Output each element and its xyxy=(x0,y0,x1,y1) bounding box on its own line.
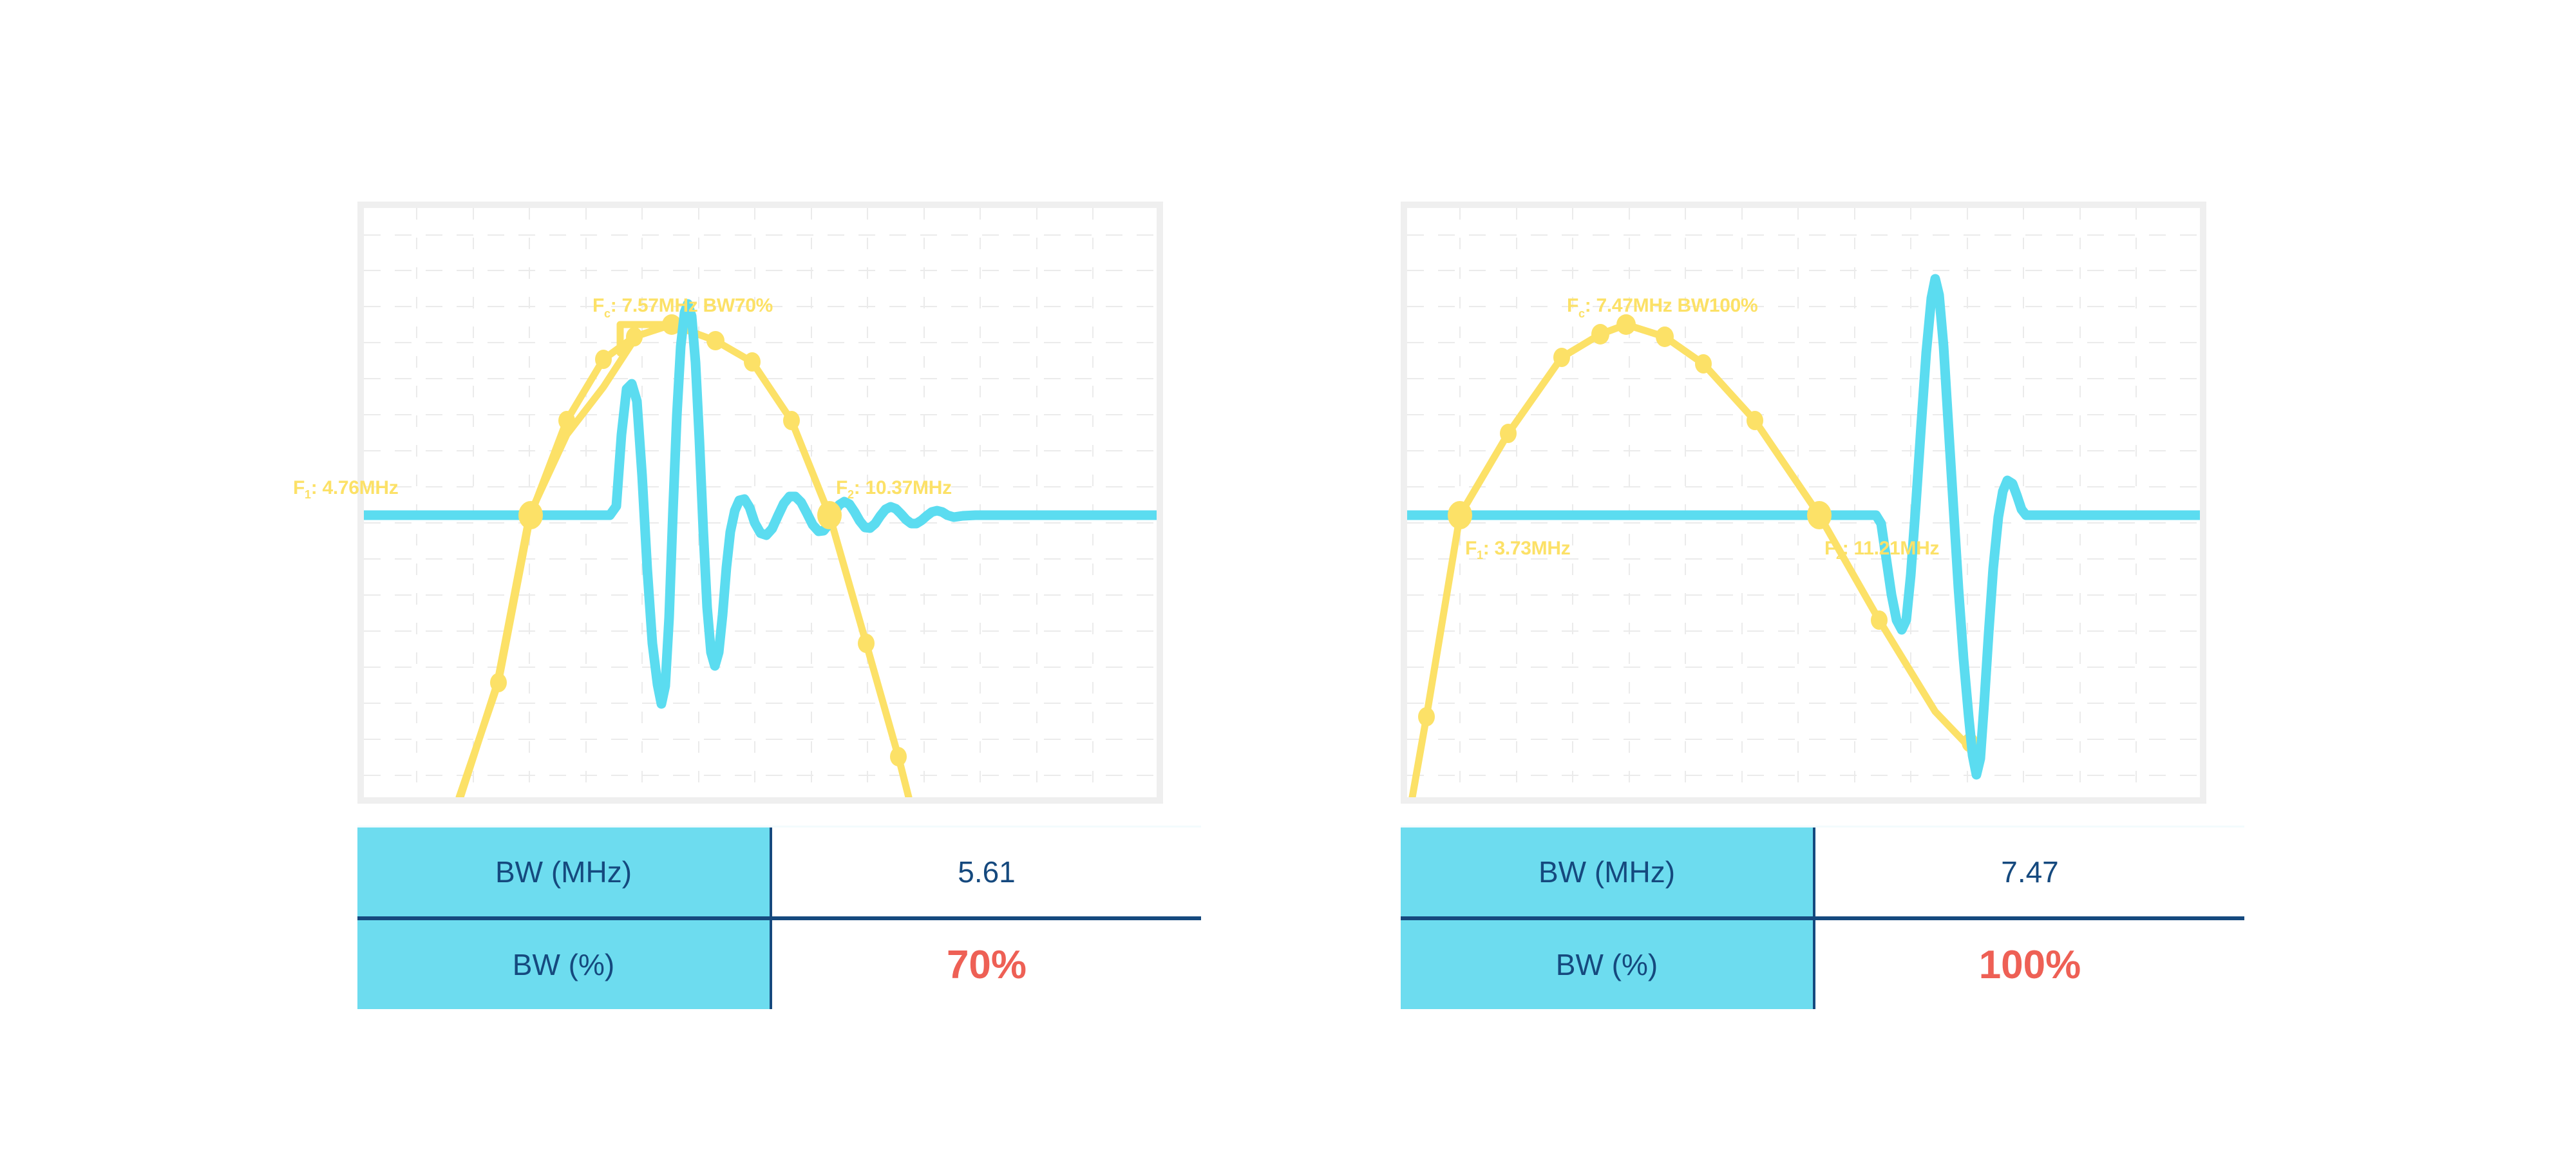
plot-area-left: Fc: 7.57MHz BW70% F1: 4.76MHz F2: 10.37M… xyxy=(364,208,1157,797)
lower-frequency-label-left: F1: 4.76MHz xyxy=(293,477,398,499)
lower-frequency-label-right: F1: 3.73MHz xyxy=(1465,538,1570,560)
table-row: BW (%) 100% xyxy=(1401,918,2244,1009)
bw-percent-label-left: BW (%) xyxy=(357,918,771,1009)
plot-svg-right xyxy=(1407,208,2200,797)
upper-frequency-label-left: F2: 10.37MHz xyxy=(836,477,952,499)
waveform-right xyxy=(1407,279,2200,775)
spectrum-curve-left-main xyxy=(459,325,909,797)
plot-frame-left: Fc: 7.57MHz BW70% F1: 4.76MHz F2: 10.37M… xyxy=(357,202,1163,804)
plot-area-right: Fc: 7.47MHz BW100% F1: 3.73MHz F2: 11.21… xyxy=(1407,208,2200,797)
table-row: BW (MHz) 7.47 xyxy=(1401,828,2244,918)
center-frequency-label-right: Fc: 7.47MHz BW100% xyxy=(1567,295,1757,317)
grid-right xyxy=(1407,208,2200,797)
figure-root: Fc: 7.57MHz BW70% F1: 4.76MHz F2: 10.37M… xyxy=(0,0,2576,1154)
bw-percent-label-right: BW (%) xyxy=(1401,918,1814,1009)
bw-percent-value-right: 100% xyxy=(1814,918,2244,1009)
spectrum-markers-right xyxy=(1418,314,1978,752)
upper-frequency-label-right: F2: 11.21MHz xyxy=(1824,538,1939,560)
plot-frame-right: Fc: 7.47MHz BW100% F1: 3.73MHz F2: 11.21… xyxy=(1401,202,2206,804)
center-frequency-label-left: Fc: 7.57MHz BW70% xyxy=(592,295,773,317)
bw-mhz-label-right: BW (MHz) xyxy=(1401,828,1814,918)
panel-right: Fc: 7.47MHz BW100% F1: 3.73MHz F2: 11.21… xyxy=(1043,0,2331,1154)
bw-mhz-label-left: BW (MHz) xyxy=(357,828,771,918)
bandwidth-table-right: BW (MHz) 7.47 BW (%) 100% xyxy=(1401,826,2244,1009)
bw-mhz-value-right: 7.47 xyxy=(1814,828,2244,918)
